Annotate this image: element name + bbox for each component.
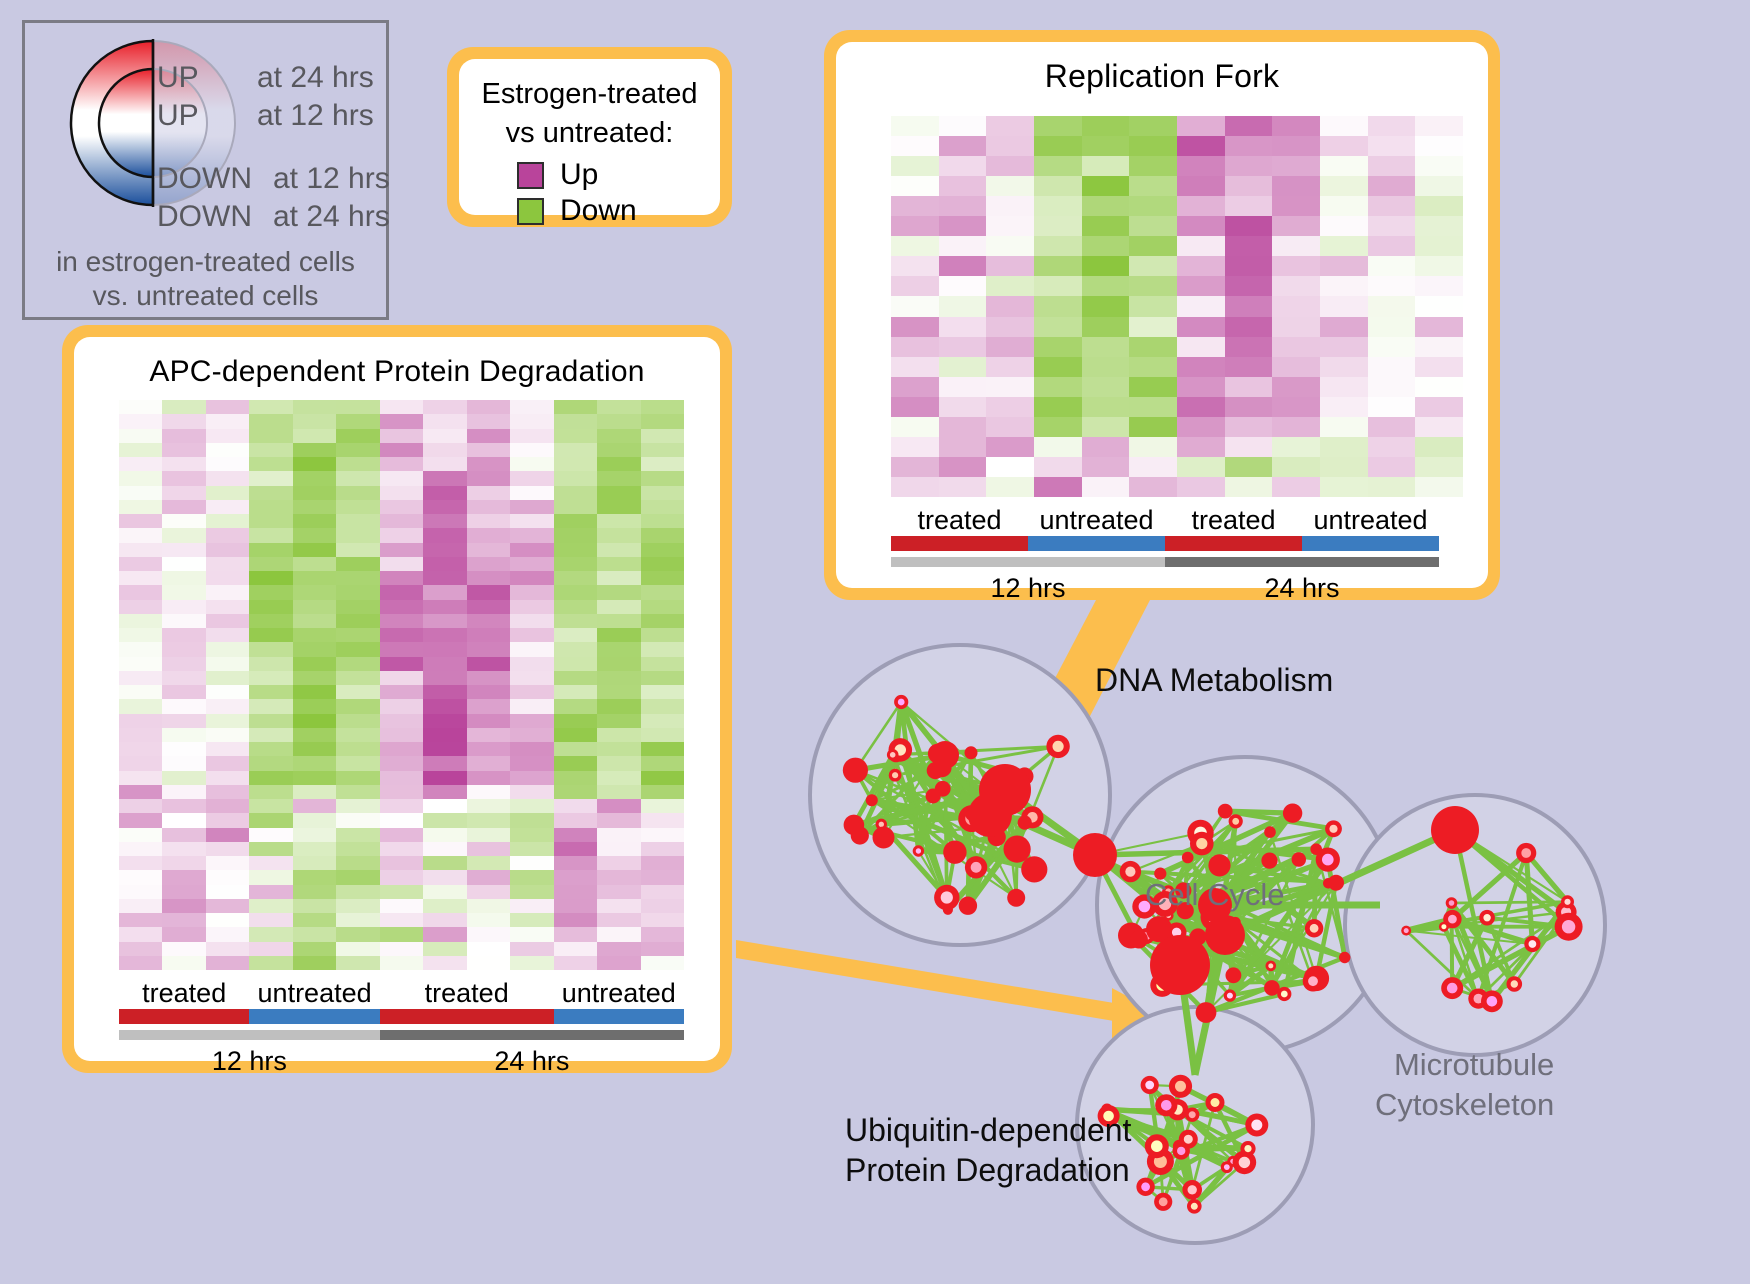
key-row-up24-label: UP [157,61,199,95]
cluster-label-cell-cycle: Cell Cycle [1145,875,1285,915]
condition-color-bar-row [74,1009,720,1024]
legend-title-line-2: vs untreated: [459,112,720,151]
legend-item-down-label: Down [560,194,637,228]
condition-color-bar [249,1009,379,1024]
timepoint-bar [380,1030,684,1040]
timepoint-label: 24 hrs [1165,567,1439,604]
condition-color-bar [554,1009,684,1024]
timepoint-label: 12 hrs [119,1040,380,1077]
replication-fork-heatmap [891,116,1463,497]
legend-item-down: Down [517,193,720,229]
condition-color-bar [380,1009,554,1024]
condition-label: untreated [554,977,684,1009]
condition-label: treated [1165,504,1302,536]
figure-canvas: UP at 24 hrs UP at 12 hrs DOWN at 12 hrs… [0,0,1750,1279]
pathway-network-diagram: DNA Metabolism Cell Cycle Microtubule Cy… [795,605,1750,1279]
down-swatch-icon [517,198,544,225]
key-row-down24-label: DOWN [157,200,252,234]
condition-color-bar [891,536,1028,551]
heatmap-grid [119,400,684,970]
replication-fork-body: Replication Fork treateduntreatedtreated… [836,42,1488,588]
apc-degradation-body: APC-dependent Protein Degradation treate… [74,337,720,1061]
replication-fork-annotation: treateduntreatedtreateduntreated 12 hrs2… [836,504,1488,604]
key-row-down24-time: at 24 hrs [273,200,390,234]
condition-label: untreated [1028,504,1165,536]
apc-degradation-heatmap [119,400,684,970]
apc-degradation-annotation: treateduntreatedtreateduntreated 12 hrs2… [74,977,720,1077]
timepoint-label-row: 12 hrs24 hrs [836,567,1488,604]
legend-title-line-1: Estrogen-treated [459,73,720,112]
condition-color-bar [1028,536,1165,551]
condition-label: treated [119,977,249,1009]
treatment-legend-body: Estrogen-treated vs untreated: Up Down [459,59,720,215]
replication-fork-title: Replication Fork [836,42,1488,95]
color-scale-key: UP at 24 hrs UP at 12 hrs DOWN at 12 hrs… [22,20,389,320]
heatmap-grid [891,116,1463,497]
up-swatch-icon [517,162,544,189]
cluster-label-microtubule-cytoskeleton: Microtubule Cytoskeleton [1375,1045,1554,1125]
timepoint-label: 24 hrs [380,1040,684,1077]
legend-items: Up Down [459,157,720,229]
condition-color-bar [1302,536,1439,551]
key-row-up24-time: at 24 hrs [257,61,374,95]
timepoint-label-row: 12 hrs24 hrs [74,1040,720,1077]
condition-color-bar [1165,536,1302,551]
treatment-legend-panel: Estrogen-treated vs untreated: Up Down [447,47,732,227]
key-row-down12-label: DOWN [157,162,252,196]
cluster-label-ubiquitin-degradation: Ubiquitin-dependent Protein Degradation [845,1110,1131,1190]
key-footer-line-2: vs. untreated cells [25,279,386,313]
timepoint-bar [119,1030,380,1040]
key-footer-line-1: in estrogen-treated cells [25,245,386,279]
condition-label-row: treateduntreatedtreateduntreated [836,504,1488,536]
cluster-label-dna-metabolism: DNA Metabolism [1095,660,1333,700]
condition-label: untreated [249,977,379,1009]
condition-label: untreated [1302,504,1439,536]
timepoint-bar-row [74,1024,720,1040]
legend-item-up: Up [517,157,720,193]
timepoint-bar [891,557,1165,567]
condition-color-bar-row [836,536,1488,551]
apc-degradation-title: APC-dependent Protein Degradation [74,337,720,389]
timepoint-label: 12 hrs [891,567,1165,604]
legend-item-up-label: Up [560,158,598,192]
key-row-down12-time: at 12 hrs [273,162,390,196]
timepoint-bar-row [836,551,1488,567]
condition-color-bar [119,1009,249,1024]
replication-fork-panel: Replication Fork treateduntreatedtreated… [824,30,1500,600]
timepoint-bar [1165,557,1439,567]
condition-label: treated [891,504,1028,536]
apc-degradation-panel: APC-dependent Protein Degradation treate… [62,325,732,1073]
condition-label: treated [380,977,554,1009]
key-row-up12-label: UP [157,99,199,133]
key-row-up12-time: at 12 hrs [257,99,374,133]
condition-label-row: treateduntreatedtreateduntreated [74,977,720,1009]
